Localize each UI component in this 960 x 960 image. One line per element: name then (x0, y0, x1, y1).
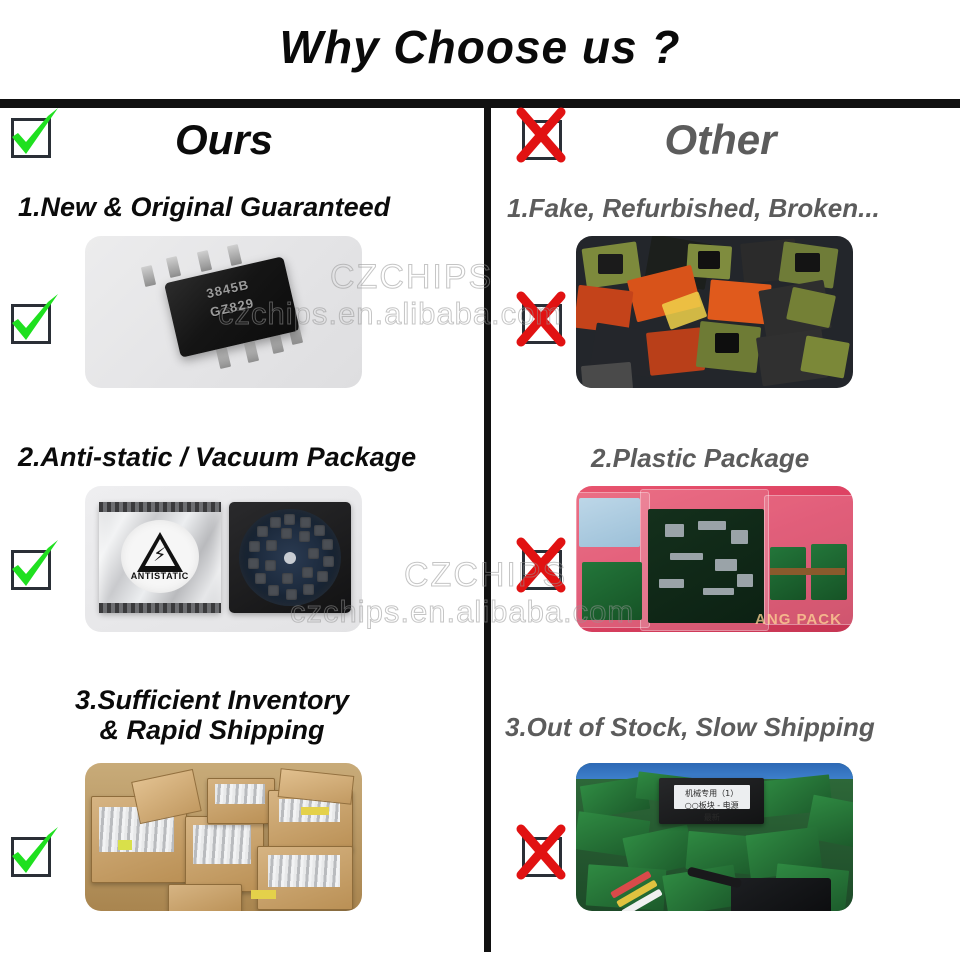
antistatic-label-text: ANTISTATIC (121, 571, 199, 581)
header-divider-horizontal (0, 99, 960, 108)
why-choose-us-infographic: Why Choose us ? Ours 1.New & Original Gu (0, 0, 960, 960)
check-mark-icon (8, 298, 56, 346)
feature-ours-3-title: 3.Sufficient Inventory & Rapid Shipping (0, 685, 484, 745)
feature-ours-1-title: 1.New & Original Guaranteed (0, 192, 484, 222)
black-module: 机械专用（1） ○○板块 - 电源 最新 (659, 778, 764, 824)
feature-ours-3: 3.Sufficient Inventory & Rapid Shipping (0, 681, 484, 951)
photo-inventory-boxes (85, 763, 362, 911)
photo-plastic-package-content: ANG PACK (576, 486, 853, 632)
photo-antistatic-package-content: ⚡ ANTISTATIC (85, 486, 362, 632)
photo-original-chip-content: 3845B GZ829 (85, 236, 362, 388)
photo-antistatic-package: ⚡ ANTISTATIC (85, 486, 362, 632)
check-mark-icon (8, 544, 56, 592)
module-label: 机械专用（1） ○○板块 - 电源 最新 (674, 785, 750, 809)
photo-plastic-package: ANG PACK (576, 486, 853, 632)
feature-other-3: 3.Out of Stock, Slow Shipping (491, 681, 960, 951)
column-other-header: Other (491, 108, 960, 186)
antistatic-label-circle: ⚡ ANTISTATIC (121, 520, 199, 593)
photo-fake-chips (576, 236, 853, 388)
feature-ours-2: 2.Anti-static / Vacuum Package ⚡ ANTISTA… (0, 436, 484, 691)
antistatic-bag: ⚡ ANTISTATIC (99, 502, 221, 613)
photo-out-of-stock-content: 机械专用（1） ○○板块 - 电源 最新 (576, 763, 853, 911)
reel-disc (239, 509, 341, 607)
photo-original-chip: 3845B GZ829 (85, 236, 362, 388)
photo-inventory-boxes-content (85, 763, 362, 911)
feature-ours-1: 1.New & Original Guaranteed 3845B GZ829 (0, 186, 484, 446)
photo-out-of-stock: 机械专用（1） ○○板块 - 电源 最新 (576, 763, 853, 911)
module-label-text: 机械专用（1） ○○板块 - 电源 最新 (674, 788, 750, 824)
feature-other-1-title: 1.Fake, Refurbished, Broken... (491, 194, 960, 223)
column-other-title: Other (491, 116, 960, 164)
column-ours-title: Ours (0, 116, 484, 164)
column-other: Other 1.Fake, Refurbished, Broken... (491, 108, 960, 952)
column-ours-header: Ours (0, 108, 484, 186)
cross-mark-icon (519, 298, 567, 346)
feature-other-2-title: 2.Plastic Package (491, 444, 960, 473)
feature-ours-2-title: 2.Anti-static / Vacuum Package (0, 442, 484, 472)
feature-other-1: 1.Fake, Refurbished, Broken... (491, 186, 960, 446)
column-ours: Ours 1.New & Original Guaranteed (0, 108, 484, 952)
lightning-bolt-icon: ⚡ (153, 546, 166, 565)
plastic-pack-watermark-text: ANG PACK (755, 611, 842, 628)
column-divider-vertical (484, 108, 491, 952)
page-title: Why Choose us ? (0, 20, 960, 74)
feature-other-2: 2.Plastic Package (491, 436, 960, 691)
component-reel-tray (229, 502, 351, 613)
photo-fake-chips-content (576, 236, 853, 388)
cross-mark-icon (519, 831, 567, 879)
cross-mark-icon (519, 544, 567, 592)
feature-other-3-title: 3.Out of Stock, Slow Shipping (491, 713, 960, 742)
check-mark-icon (8, 831, 56, 879)
